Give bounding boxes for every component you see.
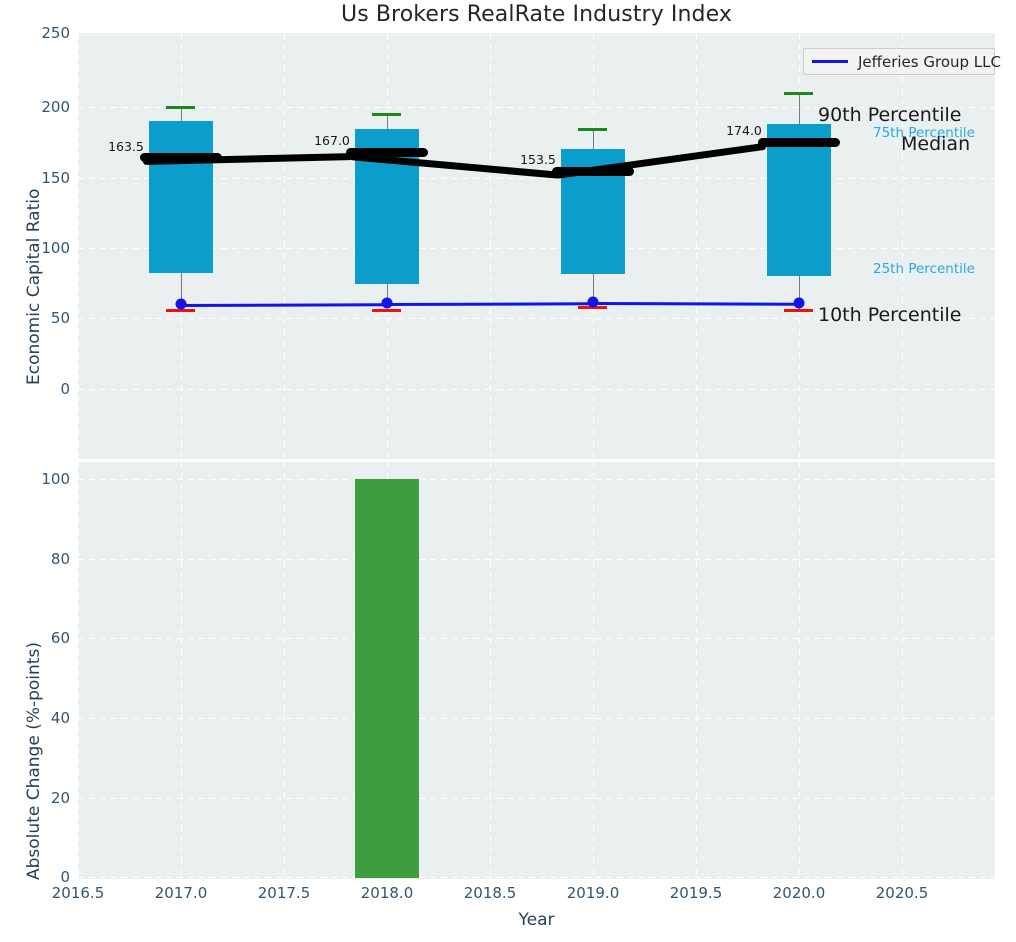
xtick-2020-5: 2020.5 — [876, 884, 929, 902]
ytick-top-250: 250 — [8, 24, 70, 42]
ytick-bottom-40: 40 — [8, 709, 70, 727]
xtick-2020-0: 2020.0 — [773, 884, 826, 902]
ytick-top-150: 150 — [8, 169, 70, 187]
xtick-2017-0: 2017.0 — [155, 884, 208, 902]
ytick-bottom-100: 100 — [8, 470, 70, 488]
xtick-2018-5: 2018.5 — [464, 884, 517, 902]
ytick-bottom-60: 60 — [8, 629, 70, 647]
ytick-bottom-20: 20 — [8, 789, 70, 807]
tick-label-layer: 250 200 150 100 50 0 100 80 60 40 20 0 2… — [0, 0, 1016, 942]
xtick-2017-5: 2017.5 — [258, 884, 311, 902]
chart-figure: Us Brokers RealRate Industry Index Econo… — [0, 0, 1016, 942]
ytick-top-100: 100 — [8, 239, 70, 257]
xtick-2019-0: 2019.0 — [567, 884, 620, 902]
ytick-top-50: 50 — [8, 309, 70, 327]
ytick-bottom-80: 80 — [8, 550, 70, 568]
xtick-2019-5: 2019.5 — [670, 884, 723, 902]
ytick-top-0: 0 — [8, 380, 70, 398]
xtick-2018-0: 2018.0 — [361, 884, 414, 902]
ytick-top-200: 200 — [8, 98, 70, 116]
xtick-2016-5: 2016.5 — [52, 884, 105, 902]
